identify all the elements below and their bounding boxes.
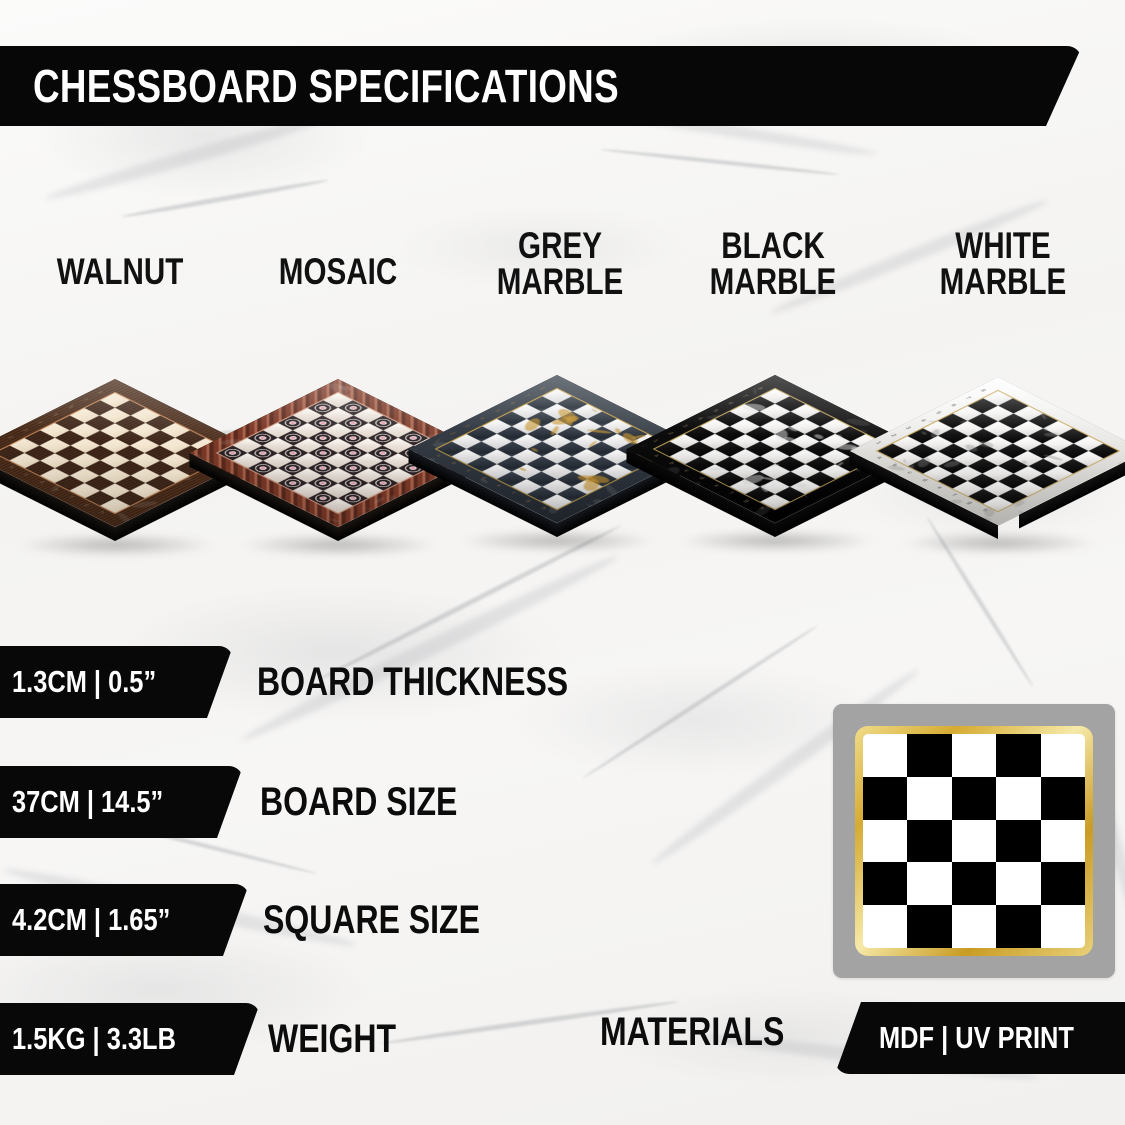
inset-board-cell — [1041, 862, 1085, 905]
board-square — [923, 451, 953, 466]
board-square — [572, 479, 602, 494]
board-square — [293, 453, 323, 468]
board-square — [278, 476, 308, 491]
page-title: CHESSBOARD SPECIFICATIONS — [33, 59, 619, 113]
board-square — [983, 451, 1013, 466]
board-square — [70, 453, 100, 468]
board-square — [715, 457, 745, 472]
inset-board-cell — [863, 905, 907, 948]
materials-row: MATERIALS MDF | UV PRINT — [0, 1002, 1125, 1076]
board-square — [527, 472, 557, 487]
board-square — [293, 468, 323, 483]
board-square — [527, 457, 557, 472]
board-square — [557, 472, 587, 487]
board-square — [557, 457, 587, 472]
board-square — [730, 479, 760, 494]
board-square — [40, 468, 70, 483]
board-square — [998, 459, 1028, 474]
board-square — [248, 461, 278, 476]
board-square — [115, 476, 145, 491]
board-square — [1073, 451, 1103, 466]
inset-board-cell — [863, 820, 907, 863]
inset-board-cell — [907, 820, 951, 863]
board-square — [775, 487, 805, 502]
board-square — [953, 451, 983, 466]
board-square — [760, 449, 790, 464]
spec-row-board-size: 37CM | 14.5” BOARD SIZE — [0, 766, 507, 838]
board-square — [115, 461, 145, 476]
board-square — [40, 453, 70, 468]
materials-label: MATERIALS — [600, 1010, 784, 1055]
board-square — [893, 451, 923, 466]
board-square — [368, 476, 398, 491]
inset-board-cell — [952, 820, 996, 863]
board-square — [353, 453, 383, 468]
board-square — [452, 449, 482, 464]
inset-board-cell — [907, 777, 951, 820]
board-square — [115, 491, 145, 506]
spec-name-text: BOARD SIZE — [260, 780, 457, 825]
chessboard-walnut[interactable]: a8b7c6d5e4f3g2h1 — [10, 348, 220, 558]
spec-value-tag: 1.3CM | 0.5” — [0, 646, 233, 718]
spec-name-text: SQUARE SIZE — [263, 898, 480, 943]
board-square — [308, 491, 338, 506]
board-square — [293, 483, 323, 498]
board-square — [85, 491, 115, 506]
board-square — [482, 464, 512, 479]
board-surface: a8b7c6d5e4f3g2h1 — [850, 377, 1125, 525]
board-square — [85, 461, 115, 476]
inset-board-cell — [907, 734, 951, 777]
board-square — [938, 459, 968, 474]
board-square — [923, 466, 953, 481]
board-square — [998, 474, 1028, 489]
chessboard-black-marble[interactable]: a8b7c6d5e4f3g2h1 — [670, 344, 880, 554]
board-square — [145, 461, 175, 476]
board-square — [557, 487, 587, 502]
board-square — [383, 468, 413, 483]
spec-name-text: BOARD THICKNESS — [257, 660, 568, 705]
board-square — [602, 464, 632, 479]
board-square — [730, 449, 760, 464]
board-square — [323, 498, 353, 513]
board-square — [100, 483, 130, 498]
spec-value-text: 4.2CM | 1.65” — [12, 902, 170, 938]
board-square — [983, 466, 1013, 481]
board-square — [938, 474, 968, 489]
board-square — [1058, 459, 1088, 474]
board-square — [100, 468, 130, 483]
board-square — [542, 494, 572, 509]
board-square — [482, 449, 512, 464]
board-square — [512, 479, 542, 494]
board-square — [55, 476, 85, 491]
board-square — [968, 459, 998, 474]
board-labels-row: WALNUT MOSAIC GREY MARBLE BLACK MARBLE W… — [0, 218, 1125, 318]
board-square — [497, 457, 527, 472]
inset-board-cell — [952, 734, 996, 777]
board-square — [85, 476, 115, 491]
board-square — [983, 481, 1013, 496]
board-square — [278, 461, 308, 476]
inset-board-cell — [996, 905, 1040, 948]
board-label-black-marble: BLACK MARBLE — [679, 228, 868, 301]
materials-value-tag: MDF | UV PRINT — [835, 1002, 1125, 1074]
board-square — [100, 498, 130, 513]
board-square — [353, 468, 383, 483]
spec-value-text: 1.3CM | 0.5” — [12, 664, 156, 700]
board-square — [323, 468, 353, 483]
board-square — [130, 468, 160, 483]
board-square — [587, 457, 617, 472]
spec-value-text: 37CM | 14.5” — [12, 784, 163, 820]
board-square — [145, 476, 175, 491]
inset-board-cell — [907, 905, 951, 948]
board-square — [323, 453, 353, 468]
inset-board-cell — [907, 862, 951, 905]
board-square — [70, 468, 100, 483]
board-square — [745, 457, 775, 472]
chessboard-white-marble[interactable]: a8b7c6d5e4f3g2h1 — [893, 346, 1103, 556]
board-square — [542, 464, 572, 479]
inset-board-cell — [863, 777, 907, 820]
inset-board-cell — [863, 862, 907, 905]
spec-row-square-size: 4.2CM | 1.65” SQUARE SIZE — [0, 884, 534, 956]
board-square — [467, 457, 497, 472]
board-square — [527, 487, 557, 502]
inset-board-cell — [952, 777, 996, 820]
board-square — [323, 483, 353, 498]
board-square — [760, 464, 790, 479]
inset-board-cell — [952, 905, 996, 948]
board-square — [745, 487, 775, 502]
board-square — [983, 496, 1013, 511]
board-square — [130, 453, 160, 468]
board-square — [263, 453, 293, 468]
title-banner: CHESSBOARD SPECIFICATIONS — [0, 46, 1082, 126]
board-square — [700, 464, 730, 479]
board-square — [953, 481, 983, 496]
board-label-grey-marble: GREY MARBLE — [466, 228, 655, 301]
board-square — [70, 483, 100, 498]
inset-board-cell — [952, 862, 996, 905]
board-square — [338, 461, 368, 476]
board-square — [263, 468, 293, 483]
board-square — [25, 461, 55, 476]
board-square — [1013, 466, 1043, 481]
board-square — [805, 457, 835, 472]
inset-board-cell — [996, 734, 1040, 777]
board-square — [820, 449, 850, 464]
inset-board-cell — [1041, 734, 1085, 777]
board-square — [715, 472, 745, 487]
board-square — [685, 457, 715, 472]
inset-board-cell — [996, 777, 1040, 820]
inset-board-cell — [1041, 777, 1085, 820]
board-square — [542, 449, 572, 464]
board-square — [572, 464, 602, 479]
board-square — [233, 453, 263, 468]
board-square — [1043, 451, 1073, 466]
board-square — [160, 468, 190, 483]
board-square — [790, 449, 820, 464]
board-square — [908, 459, 938, 474]
board-square — [308, 461, 338, 476]
board-square — [338, 491, 368, 506]
board-square — [968, 489, 998, 504]
inset-board-cell — [1041, 820, 1085, 863]
board-square — [338, 476, 368, 491]
board-square — [497, 472, 527, 487]
board-label-walnut: WALNUT — [24, 254, 216, 290]
inset-board-cell — [1041, 905, 1085, 948]
board-square — [1028, 459, 1058, 474]
board-square — [368, 461, 398, 476]
board-square — [953, 466, 983, 481]
board-square — [55, 461, 85, 476]
spec-value-tag: 4.2CM | 1.65” — [0, 884, 249, 956]
inset-board-grid — [863, 734, 1085, 948]
board-square — [1013, 481, 1043, 496]
board-square — [700, 449, 730, 464]
board-square — [512, 449, 542, 464]
spec-value-tag: 37CM | 14.5” — [0, 766, 243, 838]
board-square — [805, 472, 835, 487]
inset-board-gold-border — [855, 726, 1093, 956]
board-square — [745, 472, 775, 487]
inset-board-preview[interactable] — [833, 704, 1115, 978]
board-square — [670, 449, 700, 464]
board-label-mosaic: MOSAIC — [242, 254, 434, 290]
board-square — [160, 453, 190, 468]
chessboard-gallery: a8b7c6d5e4f3g2h1 a8b7c6d5e4f3g2h1 a8b7c6… — [0, 330, 1125, 580]
board-square — [10, 453, 40, 468]
board-square — [308, 476, 338, 491]
board-square — [100, 453, 130, 468]
board-square — [775, 472, 805, 487]
board-square — [790, 479, 820, 494]
board-square — [130, 483, 160, 498]
board-square — [998, 489, 1028, 504]
board-square — [730, 464, 760, 479]
board-square — [353, 483, 383, 498]
board-square — [1013, 451, 1043, 466]
board-square — [820, 464, 850, 479]
board-square — [760, 479, 790, 494]
board-square — [760, 494, 790, 509]
board-square — [1028, 474, 1058, 489]
spec-row-thickness: 1.3CM | 0.5” BOARD THICKNESS — [0, 646, 646, 718]
infographic-page: CHESSBOARD SPECIFICATIONS WALNUT MOSAIC … — [0, 0, 1125, 1125]
board-square — [968, 474, 998, 489]
board-square — [790, 464, 820, 479]
inset-board-cell — [863, 734, 907, 777]
board-label-white-marble: WHITE MARBLE — [909, 228, 1098, 301]
board-square — [542, 479, 572, 494]
inset-board-cell — [996, 862, 1040, 905]
board-square — [512, 464, 542, 479]
board-square — [572, 449, 602, 464]
board-square — [775, 457, 805, 472]
inset-board-cell — [996, 820, 1040, 863]
board-square — [587, 472, 617, 487]
board-square — [1043, 466, 1073, 481]
materials-value-text: MDF | UV PRINT — [879, 1020, 1074, 1056]
